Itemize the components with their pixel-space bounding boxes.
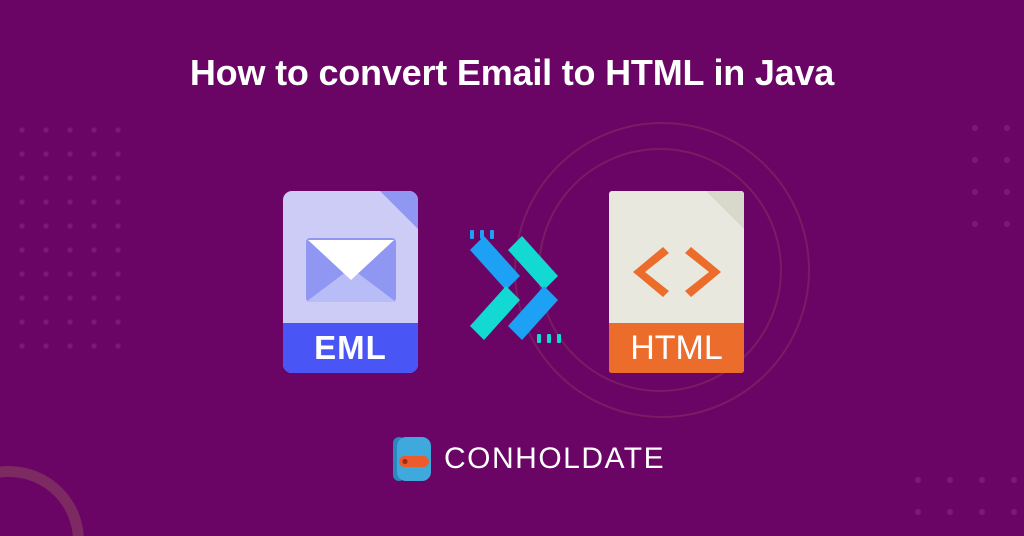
eml-file-icon: EML bbox=[283, 191, 418, 373]
eml-file-label: EML bbox=[283, 323, 418, 373]
conholdate-logo[interactable]: CONHOLDATE bbox=[393, 437, 665, 481]
dot-grid-right-bottom-decoration bbox=[898, 460, 1024, 536]
banner-canvas: How to convert Email to HTML in Java EML bbox=[0, 0, 1024, 536]
envelope-icon bbox=[306, 238, 396, 302]
conholdate-logo-text: CONHOLDATE bbox=[444, 442, 665, 476]
tick-marks-bottom-decoration bbox=[537, 334, 561, 343]
dot-grid-right-top-decoration bbox=[955, 108, 1024, 238]
html-file-icon: HTML bbox=[609, 191, 744, 373]
double-chevron-right-icon bbox=[462, 228, 562, 348]
code-brackets-icon bbox=[609, 243, 744, 306]
corner-ring-decoration bbox=[0, 466, 84, 536]
conholdate-logo-icon bbox=[393, 437, 433, 481]
page-title: How to convert Email to HTML in Java bbox=[0, 52, 1024, 94]
dot-grid-left-decoration bbox=[8, 116, 138, 366]
html-file-label: HTML bbox=[609, 323, 744, 373]
